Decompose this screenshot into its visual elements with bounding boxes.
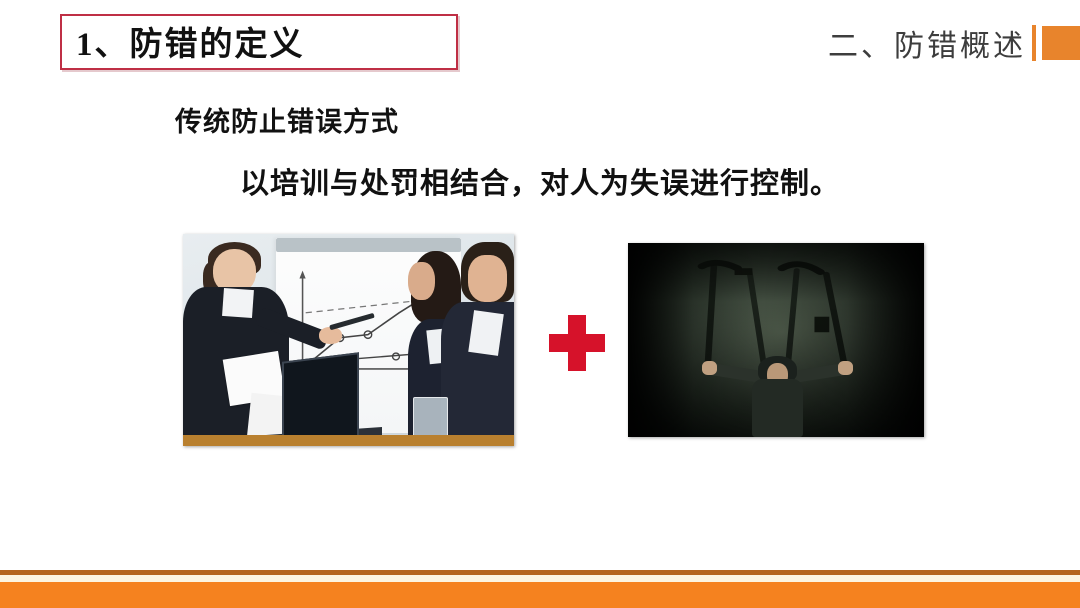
footer-accent-bar [0, 582, 1080, 608]
presenter-shirt [222, 288, 254, 318]
prisoner-body [752, 379, 802, 437]
attendee-two-face [468, 255, 508, 302]
plus-vertical-bar [568, 315, 586, 371]
page-title: 1、防错的定义 [76, 17, 305, 65]
table-edge [183, 435, 514, 446]
training-photo [183, 234, 514, 446]
orange-square-icon [1042, 26, 1080, 60]
flipchart-clamp-icon [276, 238, 461, 252]
footer-gap-bar [0, 575, 1080, 582]
section-header: 二、防错概述 [828, 20, 1080, 66]
attendee-two-shirt [468, 311, 503, 357]
laptop-screen [282, 352, 359, 446]
orange-divider-icon [1032, 25, 1036, 61]
attendee-one-face [408, 262, 434, 300]
slide-title-box: 1、防错的定义 [60, 14, 458, 70]
prisoner-right-hand [838, 361, 853, 375]
presentation-slide: 1、防错的定义 二、防错概述 传统防止错误方式 以培训与处罚相结合，对人为失误进… [0, 0, 1080, 608]
plus-symbol-icon [549, 315, 605, 371]
punishment-photo [628, 243, 924, 437]
body-heading: 传统防止错误方式 [175, 100, 399, 139]
section-header-label: 二、防错概述 [828, 21, 1032, 65]
body-statement: 以培训与处罚相结合，对人为失误进行控制。 [240, 160, 840, 202]
prisoner-left-hand [702, 361, 717, 375]
